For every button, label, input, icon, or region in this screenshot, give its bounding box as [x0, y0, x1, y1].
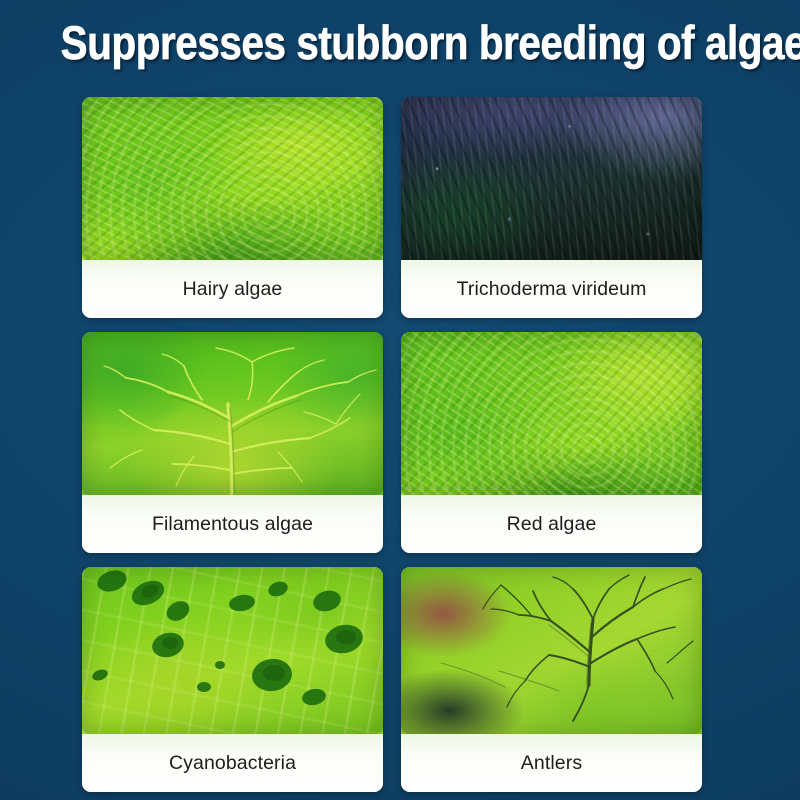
antlers-photo [401, 567, 702, 734]
fiber-shadow-layer [401, 97, 702, 260]
grain-overlay [401, 332, 702, 495]
algae-label: Cyanobacteria [169, 752, 296, 774]
fiber-texture-layer [401, 97, 702, 260]
cyanobacteria-photo [82, 567, 383, 734]
algae-label: Filamentous algae [152, 513, 313, 535]
red-algae-photo [401, 332, 702, 495]
algae-card-hairy-algae[interactable]: Hairy algae [82, 97, 383, 318]
poster-title-container: Suppresses stubborn breeding of algae [0, 18, 800, 68]
grain-overlay [401, 97, 702, 260]
algae-label: Red algae [507, 513, 597, 535]
filamentous-algae-photo [82, 332, 383, 495]
dark-colony-blobs-layer [82, 567, 383, 734]
antler-branch-layer [401, 567, 702, 734]
algae-poster: Suppresses stubborn breeding of algae Ha… [0, 0, 800, 800]
speckle-overlay [401, 97, 702, 260]
algae-label: Hairy algae [183, 278, 283, 300]
algae-type-grid: Hairy algae Trichoderma virideum [82, 97, 702, 787]
vignette-overlay [82, 332, 383, 495]
grain-overlay [82, 332, 383, 495]
algae-card-trichoderma-virideum[interactable]: Trichoderma virideum [401, 97, 702, 318]
branching-filament-layer [82, 332, 383, 495]
grain-overlay [401, 567, 702, 734]
card-label-band: Trichoderma virideum [401, 260, 702, 318]
poster-title: Suppresses stubborn breeding of algae [61, 18, 800, 68]
grain-overlay [82, 567, 383, 734]
fiber-texture-layer [401, 332, 702, 495]
vignette-overlay [82, 97, 383, 260]
vignette-overlay [401, 97, 702, 260]
trichoderma-virideum-photo [401, 97, 702, 260]
card-label-band: Hairy algae [82, 260, 383, 318]
grain-overlay [82, 97, 383, 260]
algae-card-cyanobacteria[interactable]: Cyanobacteria [82, 567, 383, 792]
fiber-shadow-layer [82, 97, 383, 260]
hairy-algae-photo [82, 97, 383, 260]
swirl-texture-layer [82, 97, 383, 260]
card-label-band: Antlers [401, 734, 702, 792]
vignette-overlay [82, 567, 383, 734]
card-label-band: Red algae [401, 495, 702, 553]
algae-label: Antlers [521, 752, 582, 774]
vein-texture-layer [82, 567, 383, 734]
fiber-texture-layer [82, 97, 383, 260]
swirl-texture-layer [401, 332, 702, 495]
algae-card-antlers[interactable]: Antlers [401, 567, 702, 792]
algae-card-red-algae[interactable]: Red algae [401, 332, 702, 553]
fiber-shadow-layer [401, 332, 702, 495]
algae-label: Trichoderma virideum [457, 278, 647, 300]
card-label-band: Cyanobacteria [82, 734, 383, 792]
vignette-overlay [401, 332, 702, 495]
vignette-overlay [401, 567, 702, 734]
algae-card-filamentous-algae[interactable]: Filamentous algae [82, 332, 383, 553]
card-label-band: Filamentous algae [82, 495, 383, 553]
